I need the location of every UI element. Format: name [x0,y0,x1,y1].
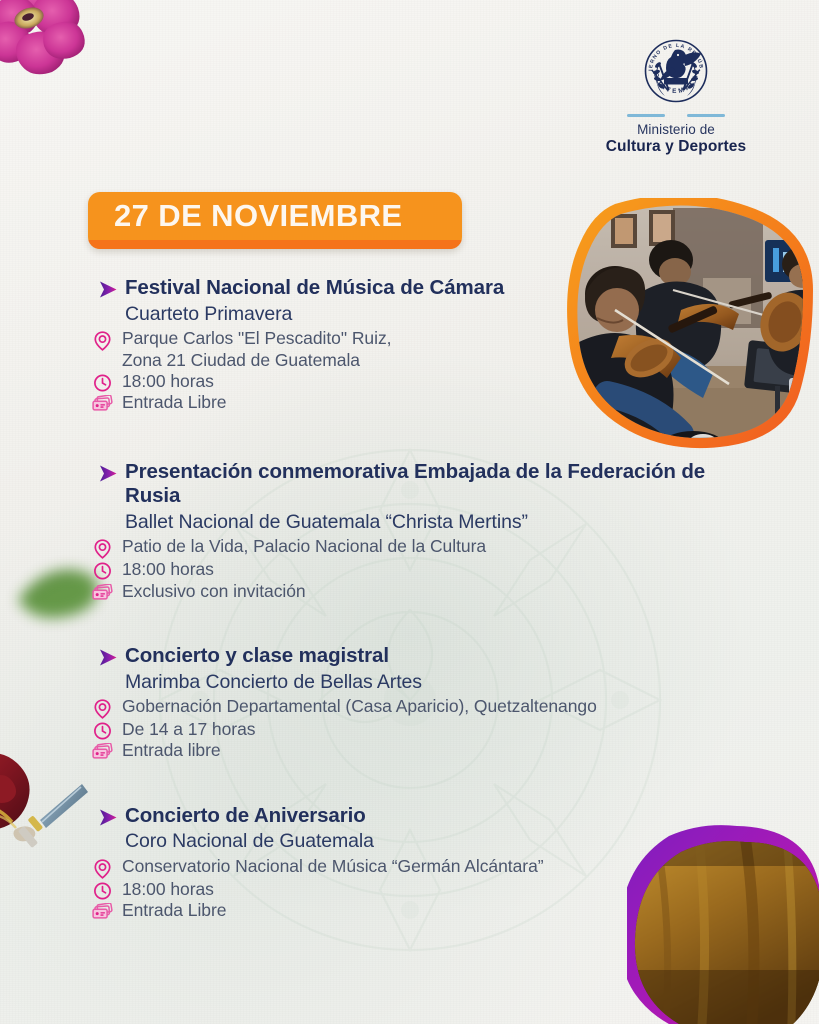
folk-dancer-with-sword-photo [0,740,92,868]
event-item: Festival Nacional de Música de Cámara Cu… [92,276,712,414]
event-item: Concierto y clase magistral Marimba Conc… [92,644,712,762]
event-admission: Entrada libre [122,740,221,761]
poster-canvas: GOBIERNO DE LA REPÚBLICA GUATEMALA [0,0,819,1024]
date-banner-label: 27 DE NOVIEMBRE [114,192,403,240]
event-subtitle: Cuarteto Primavera [125,302,712,327]
event-title: Presentación conmemorativa Embajada de l… [125,460,712,509]
event-subtitle: Ballet Nacional de Guatemala “Christa Me… [125,510,712,535]
clock-icon [92,562,113,580]
event-title: Concierto y clase magistral [125,644,712,669]
event-meta: Conservatorio Nacional de Música “Germán… [92,856,712,922]
event-time-row: De 14 a 17 horas [92,719,712,740]
ministry-line-1: Ministerio de [581,122,771,138]
event-location-row: Patio de la Vida, Palacio Nacional de la… [92,536,712,559]
event-location-row: Parque Carlos "El Pescadito" Ruiz, Zona … [92,328,712,371]
arrow-right-icon [92,281,117,298]
event-location: Gobernación Departamental (Casa Aparicio… [122,696,597,717]
orchid-flower-photo [0,0,110,92]
event-admission: Entrada Libre [122,392,226,413]
event-title: Festival Nacional de Música de Cámara [125,276,712,301]
event-location: Patio de la Vida, Palacio Nacional de la… [122,536,486,557]
clock-icon [92,882,113,900]
event-time: 18:00 horas [122,371,214,392]
event-time-row: 18:00 horas [92,371,712,392]
event-item: Presentación conmemorativa Embajada de l… [92,460,712,602]
date-banner-underbar [88,240,462,249]
event-admission-row: Entrada Libre [92,392,712,413]
event-admission: Entrada Libre [122,900,226,921]
event-item: Concierto de Aniversario Coro Nacional d… [92,804,712,922]
event-admission-row: Entrada Libre [92,900,712,921]
tickets-icon [92,395,113,412]
event-location: Parque Carlos "El Pescadito" Ruiz, Zona … [122,328,391,371]
event-time: 18:00 horas [122,879,214,900]
map-pin-icon [92,859,113,879]
map-pin-icon [92,331,113,351]
event-meta: Patio de la Vida, Palacio Nacional de la… [92,536,712,602]
event-time: De 14 a 17 horas [122,719,255,740]
event-subtitle: Coro Nacional de Guatemala [125,829,712,854]
event-admission-row: Exclusivo con invitación [92,581,712,602]
ministry-lockup: GOBIERNO DE LA REPÚBLICA GUATEMALA [581,34,771,156]
tickets-icon [92,743,113,760]
arrow-right-icon [92,809,117,826]
event-time-row: 18:00 horas [92,559,712,580]
event-title: Concierto de Aniversario [125,804,712,829]
event-location-row: Gobernación Departamental (Casa Aparicio… [92,696,712,719]
guatemala-coat-of-arms-icon: GOBIERNO DE LA REPÚBLICA GUATEMALA [639,34,713,108]
events-list: Festival Nacional de Música de Cámara Cu… [92,276,712,946]
event-admission-row: Entrada libre [92,740,712,761]
ministry-line-2: Cultura y Deportes [581,137,771,156]
event-meta: Gobernación Departamental (Casa Aparicio… [92,696,712,762]
arrow-right-icon [92,465,117,482]
arrow-right-icon [92,649,117,666]
map-pin-icon [92,539,113,559]
clock-icon [92,722,113,740]
event-admission: Exclusivo con invitación [122,581,306,602]
tickets-icon [92,903,113,920]
ministry-rules [581,114,771,117]
event-location-row: Conservatorio Nacional de Música “Germán… [92,856,712,879]
event-time: 18:00 horas [122,559,214,580]
map-pin-icon [92,699,113,719]
clock-icon [92,374,113,392]
event-meta: Parque Carlos "El Pescadito" Ruiz, Zona … [92,328,712,413]
event-time-row: 18:00 horas [92,879,712,900]
event-subtitle: Marimba Concierto de Bellas Artes [125,670,712,695]
tickets-icon [92,584,113,601]
event-location: Conservatorio Nacional de Música “Germán… [122,856,544,877]
date-banner: 27 DE NOVIEMBRE [88,192,462,249]
